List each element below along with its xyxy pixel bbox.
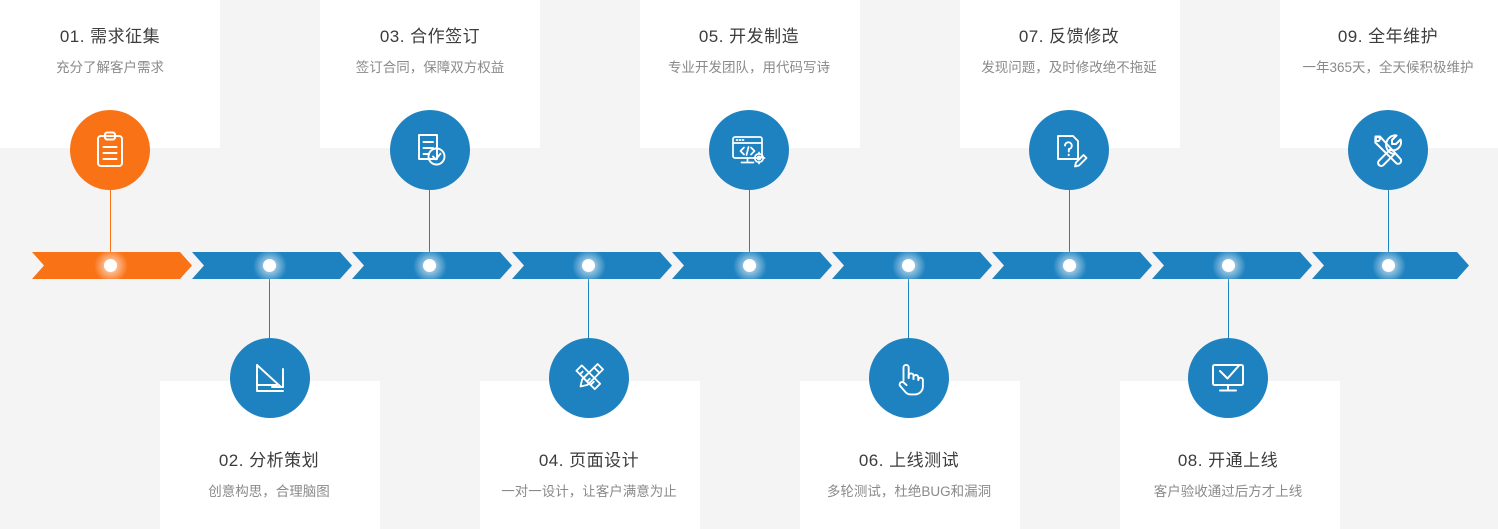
process-arrow-bar <box>0 252 1498 279</box>
clipboard-icon <box>88 128 132 172</box>
step-9-connector-stem <box>1388 190 1389 254</box>
arrow-marker-dot-8 <box>1222 259 1235 272</box>
step-5-connector-stem <box>749 190 750 254</box>
click-hand-icon <box>887 356 931 400</box>
step-4-icon-circle[interactable] <box>549 338 629 418</box>
process-timeline-infographic: 01. 需求征集 充分了解客户需求 02. 分析策划 <box>0 0 1498 529</box>
arrow-marker-dot-4 <box>582 259 595 272</box>
step-2-icon-circle[interactable] <box>230 338 310 418</box>
arrow-marker-dot-1 <box>104 259 117 272</box>
wrench-screwdriver-icon <box>1366 128 1410 172</box>
arrow-marker-dot-5 <box>743 259 756 272</box>
arrow-marker-dot-6 <box>902 259 915 272</box>
step-8-connector-stem <box>1228 279 1229 339</box>
code-monitor-gear-icon <box>726 127 772 173</box>
step-1-icon-circle[interactable] <box>70 110 150 190</box>
step-6-icon-circle[interactable] <box>869 338 949 418</box>
step-9-icon-circle[interactable] <box>1348 110 1428 190</box>
step-7-connector-stem <box>1069 190 1070 254</box>
arrow-analysis-icon <box>248 356 292 400</box>
pencil-ruler-icon <box>567 356 611 400</box>
step-4-connector-stem <box>588 279 589 339</box>
arrow-marker-dot-9 <box>1382 259 1395 272</box>
step-3-connector-stem <box>429 190 430 254</box>
step-3-icon-circle[interactable] <box>390 110 470 190</box>
step-7-icon-circle[interactable] <box>1029 110 1109 190</box>
step-2-connector-stem <box>269 279 270 339</box>
monitor-check-icon <box>1206 356 1250 400</box>
contract-check-icon <box>408 128 452 172</box>
question-edit-icon <box>1047 128 1091 172</box>
arrow-marker-dot-3 <box>423 259 436 272</box>
step-8-icon-circle[interactable] <box>1188 338 1268 418</box>
arrow-marker-dot-7 <box>1063 259 1076 272</box>
step-5-icon-circle[interactable] <box>709 110 789 190</box>
step-1-connector-stem <box>110 190 111 254</box>
step-6-connector-stem <box>908 279 909 339</box>
arrow-marker-dot-2 <box>263 259 276 272</box>
